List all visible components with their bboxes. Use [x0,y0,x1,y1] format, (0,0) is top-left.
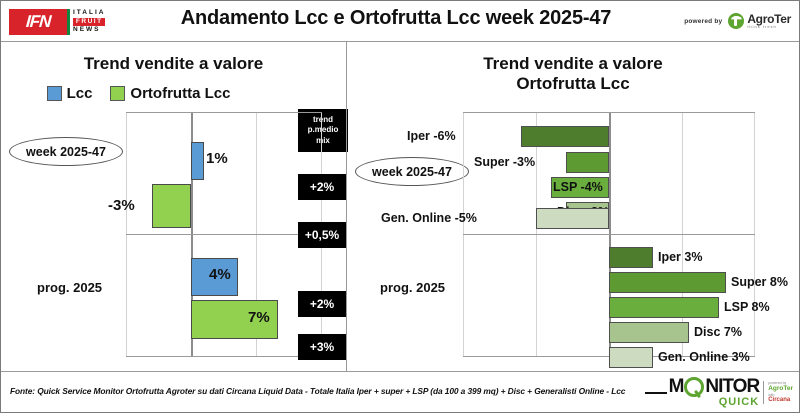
monitor-quick-wordmark: M NITOR QUICK [669,377,760,407]
bar-label-prog-gen-online: Gen. Online 3% [658,350,750,364]
plot-top-border [463,112,755,113]
monitor-letter-m: M [669,378,684,396]
agroter-logo-text: AgroTer think fresh [747,13,791,29]
right-group-label-prog: prog. 2025 [380,280,445,295]
bar-prog-iper[interactable] [609,247,653,268]
left-chart-title: Trend vendite a valore [1,54,346,74]
ifn-word-italia: ITALIA [73,10,105,17]
chip-prog-lcc: +2% [298,291,346,317]
magnifier-icon [684,377,704,397]
chip-week-lcc: +2% [298,174,346,200]
tree-icon [728,13,744,29]
left-chart-legend: Lcc Ortofrutta Lcc [1,85,276,102]
slide-header: IFN ITALIA FRUIT NEWS Andamento Lcc e Or… [1,1,799,42]
left-plot-area: 1% -3% 4% 7% [126,112,322,357]
bar-label-prog-iper: Iper 3% [658,250,702,264]
group-separator-line [126,234,322,235]
group-separator-line [463,234,755,235]
legend-label-lcc: Lcc [67,85,93,102]
bar-prog-disc[interactable] [609,322,689,343]
ifn-logo: IFN ITALIA FRUIT NEWS [9,6,107,38]
powered-by-block: powered by AgroTer think fresh [684,8,791,34]
bar-week-ortofrutta[interactable] [152,184,191,228]
agroter-logo: AgroTer think fresh [728,13,791,29]
ifn-logo-text: IFN [25,12,51,32]
bar-label-prog-disc: Disc 7% [694,325,742,339]
right-chart-panel: Trend vendite a valore Ortofrutta Lcc we… [346,42,799,372]
powered-by-label: powered by [684,18,722,25]
left-group-label-week: week 2025-47 [9,137,123,166]
right-plot-area: Iper -6% Super -3% LSP -4% Disc -3% Gen.… [463,112,755,357]
bar-label-week-super: Super -3% [474,155,535,169]
legend-swatch-blue-icon [47,86,62,101]
left-group-label-prog: prog. 2025 [37,280,102,295]
legend-label-ortofrutta-lcc: Ortofrutta Lcc [130,85,230,102]
agroter-tagline: think fresh [747,25,791,29]
bar-prog-lsp[interactable] [609,297,719,318]
ifn-word-news: NEWS [73,27,105,34]
monitor-word: M NITOR [669,377,760,397]
ifn-word-fruit: FRUIT [73,18,105,27]
right-group-label-week: week 2025-47 [355,157,469,186]
bar-week-gen-online[interactable] [536,208,609,229]
chip-prog-ortofrutta: +3% [298,334,346,360]
plot-top-border [126,112,322,113]
bar-prog-super[interactable] [609,272,726,293]
bar-label-prog-lsp: LSP 8% [724,300,770,314]
monitor-quick-logo: M NITOR QUICK powered by AgroTer with Ci… [645,376,793,409]
bar-prog-gen-online[interactable] [609,347,653,368]
logo-rule [645,392,667,394]
ifn-logo-words: ITALIA FRUIT NEWS [73,10,105,34]
bar-week-super[interactable] [566,152,609,173]
monitor-logo-credits: powered by AgroTer with Circana [763,381,793,403]
bar-value-prog-lcc: 4% [209,266,231,283]
quick-word: QUICK [669,397,760,407]
bar-label-prog-super: Super 8% [731,275,788,289]
right-chart-title-line-2: Ortofrutta Lcc [347,74,799,94]
credit-agroter: AgroTer [768,385,793,392]
credit-circana: Circana [768,397,793,404]
bar-week-lcc[interactable] [191,142,204,180]
bar-week-iper[interactable] [521,126,609,147]
bar-value-week-lcc: 1% [206,150,228,167]
plot-bottom-border [126,356,322,357]
slide-root: IFN ITALIA FRUIT NEWS Andamento Lcc e Or… [0,0,800,413]
bar-label-week-iper: Iper -6% [407,129,456,143]
source-note: Fonte: Quick Service Monitor Ortofrutta … [10,386,625,396]
ifn-logo-mark: IFN [9,9,70,35]
left-chart-panel: Trend vendite a valore Lcc Ortofrutta Lc… [1,42,346,372]
bar-value-week-ortofrutta: -3% [108,197,135,214]
legend-item-lcc: Lcc [47,85,93,102]
bar-value-prog-ortofrutta: 7% [248,309,270,326]
bar-label-week-gen-online: Gen. Online -5% [381,211,477,225]
page-title: Andamento Lcc e Ortofrutta Lcc week 2025… [121,7,671,30]
monitor-letters-nitor: NITOR [705,378,759,396]
chip-week-ortofrutta: +0,5% [298,222,346,248]
slide-footer: Fonte: Quick Service Monitor Ortofrutta … [1,371,799,412]
legend-item-ortofrutta-lcc: Ortofrutta Lcc [110,85,230,102]
right-chart-title-line-1: Trend vendite a valore [347,54,799,74]
right-chart-title: Trend vendite a valore Ortofrutta Lcc [347,54,799,94]
legend-swatch-green-icon [110,86,125,101]
bar-label-week-lsp: LSP -4% [553,180,603,194]
